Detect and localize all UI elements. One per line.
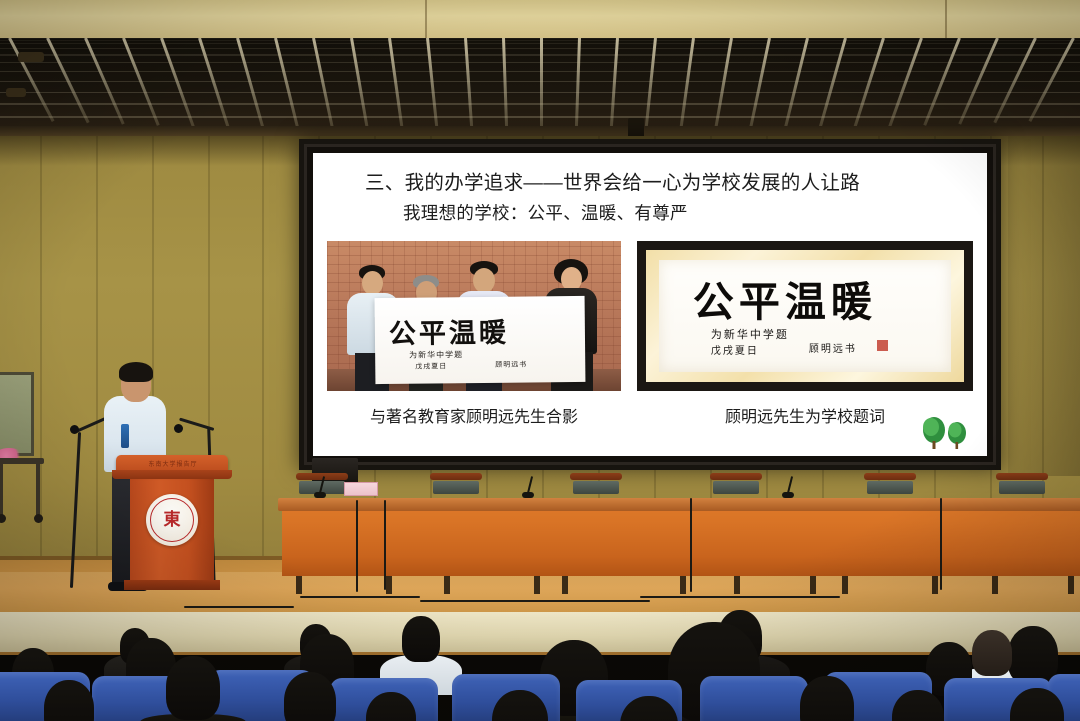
group-photo: 公平温暖 为新华中学题 戊戌夏日 顾明远书	[327, 241, 621, 391]
ceiling-crossbar	[0, 103, 1080, 104]
audience-member-head	[1008, 626, 1058, 684]
ceiling-rail	[160, 38, 195, 127]
ceiling-crossbar	[0, 116, 1080, 117]
floor-cable	[184, 606, 294, 608]
ceiling-rail	[888, 38, 923, 127]
ceiling-fixture-left-2	[6, 88, 26, 97]
ceiling-crossbar	[0, 62, 1080, 63]
wall-panel-seam	[262, 136, 264, 621]
framed-calligraphy-photo: 公平温暖 为新华中学题 戊戌夏日 顾明远书	[637, 241, 973, 391]
ceiling-crossbar	[0, 71, 1080, 72]
auditorium-seat[interactable]	[700, 676, 808, 721]
slide-content: 三、我的办学追求——世界会给一心为学校发展的人让路 我理想的学校：公平、温暖、有…	[313, 153, 987, 456]
audience-member-head	[972, 630, 1012, 676]
projection-screen: 三、我的办学追求——世界会给一心为学校发展的人让路 我理想的学校：公平、温暖、有…	[299, 139, 1001, 470]
mic-head-left	[70, 425, 79, 434]
ceiling-crossbar	[0, 43, 1080, 44]
auditorium-scene: 三、我的办学追求——世界会给一心为学校发展的人让路 我理想的学校：公平、温暖、有…	[0, 0, 1080, 721]
conference-table-center	[548, 498, 814, 576]
held-calligraphy-scroll: 公平温暖 为新华中学题 戊戌夏日 顾明远书	[375, 296, 586, 384]
cable-drop	[384, 500, 386, 590]
audience-member-head	[284, 672, 336, 721]
wall-panel-seam	[40, 136, 42, 621]
chair[interactable]	[864, 473, 916, 495]
conference-table-right	[814, 498, 1080, 576]
projector-mount	[628, 118, 644, 138]
ceiling-rail	[198, 38, 230, 128]
floor-cable	[640, 596, 840, 598]
ceiling-grid	[0, 38, 1080, 130]
calligraphy-date: 戊戌夏日	[711, 342, 759, 357]
chair[interactable]	[570, 473, 622, 495]
slide-captions: 与著名教育家顾明远先生合影 顾明远先生为学校题词	[327, 403, 973, 427]
calligraphy-inscription: 为新华中学题	[711, 326, 789, 342]
audience-member-head	[166, 656, 220, 720]
podium-emblem-icon: 東	[146, 494, 198, 546]
calligraphy-signature: 顾明远书	[809, 340, 857, 355]
slide-title: 三、我的办学追求——世界会给一心为学校发展的人让路	[365, 166, 987, 195]
name-card	[344, 482, 378, 496]
cable-drop	[356, 500, 358, 592]
podium-top-edge	[112, 470, 232, 479]
ceiling-rail	[818, 38, 846, 129]
caption-left: 与著名教育家顾明远先生合影	[327, 403, 621, 427]
scroll-inscription: 为新华中学题	[409, 349, 463, 361]
podium-plate-text: 东南大学报告厅	[138, 459, 208, 468]
ceiling-soffit-band	[0, 0, 1080, 40]
podium-base	[124, 580, 220, 590]
scroll-signature: 顾明远书	[495, 360, 527, 370]
wall-board	[0, 372, 34, 456]
audience-member-head	[402, 616, 440, 662]
water-bottle	[121, 424, 129, 448]
cable-drop	[940, 498, 942, 590]
ceiling-rail	[236, 38, 264, 129]
cable-drop	[690, 498, 692, 592]
ceiling-crossbar	[0, 48, 1080, 49]
conference-table-row	[282, 486, 1080, 594]
scroll-main-text: 公平温暖	[389, 311, 509, 351]
scroll-date: 戊戌夏日	[415, 361, 447, 371]
equipment-cart	[0, 458, 44, 524]
floor-cable	[420, 600, 650, 602]
speaker-hair	[119, 362, 153, 382]
two-trees-icon	[917, 416, 973, 450]
floor-cable	[300, 596, 420, 598]
conference-table-left	[282, 498, 548, 576]
chair[interactable]	[710, 473, 762, 495]
ceiling-fixture-left	[18, 52, 44, 62]
ceiling-rail	[853, 38, 885, 128]
ceiling-crossbar	[0, 40, 1080, 41]
chair[interactable]	[996, 473, 1048, 495]
red-seal-icon	[877, 340, 888, 351]
chair[interactable]	[430, 473, 482, 495]
ceiling-crossbar	[0, 92, 1080, 93]
wall-right-shading	[1008, 136, 1080, 476]
mic-head-right	[174, 424, 183, 433]
slide-subtitle: 我理想的学校：公平、温暖、有尊严	[403, 200, 987, 225]
slide-media-row: 公平温暖 为新华中学题 戊戌夏日 顾明远书 公平温暖 为新华中学题 戊戌夏日 顾…	[327, 241, 973, 391]
ceiling-crossbar	[0, 81, 1080, 82]
calligraphy-paper: 公平温暖 为新华中学题 戊戌夏日 顾明远书	[659, 260, 951, 372]
ceiling-crossbar	[0, 54, 1080, 55]
calligraphy-mat: 公平温暖 为新华中学题 戊戌夏日 顾明远书	[646, 250, 964, 382]
wall-panel-seam	[96, 136, 98, 621]
calligraphy-main-text: 公平温暖	[693, 268, 877, 328]
